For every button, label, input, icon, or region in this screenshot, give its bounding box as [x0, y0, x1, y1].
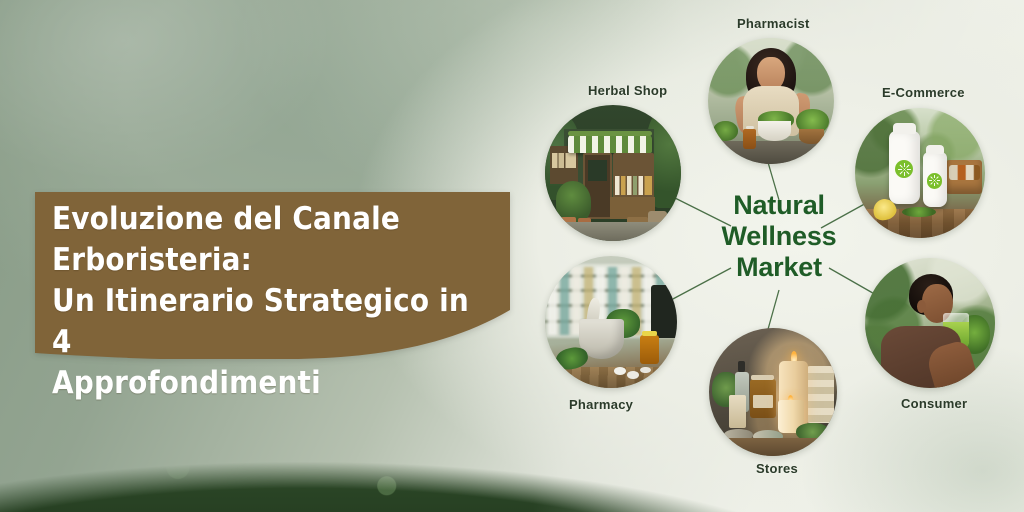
node-consumer[interactable] [865, 258, 995, 388]
node-label-herbalshop: Herbal Shop [588, 83, 667, 98]
man-drinking-green-smoothie-icon [865, 258, 995, 388]
node-pharmacist[interactable] [708, 38, 834, 164]
center-title: Natural Wellness Market [689, 190, 869, 283]
node-pharmacy[interactable] [545, 256, 677, 388]
supplement-bottles-icon [855, 108, 985, 238]
node-label-pharmacist: Pharmacist [737, 16, 810, 31]
node-label-ecommerce: E-Commerce [882, 85, 965, 100]
node-label-consumer: Consumer [901, 396, 967, 411]
woman-preparing-herbs-icon [708, 38, 834, 164]
hub-diagram: Natural Wellness Market Herbal Shop [503, 0, 1024, 512]
slide-canvas: Evoluzione del Canale Erboristeria: Un I… [0, 0, 1024, 512]
node-stores[interactable] [709, 328, 837, 456]
herbal-shop-storefront-icon [545, 105, 681, 241]
mortar-pestle-pharmacy-icon [545, 256, 677, 388]
node-label-pharmacy: Pharmacy [569, 397, 633, 412]
node-ecommerce[interactable] [855, 108, 985, 238]
wellness-candles-jars-icon [709, 328, 837, 456]
page-title: Evoluzione del Canale Erboristeria: Un I… [52, 199, 472, 404]
node-label-stores: Stores [756, 461, 798, 476]
node-herbalshop[interactable] [545, 105, 681, 241]
